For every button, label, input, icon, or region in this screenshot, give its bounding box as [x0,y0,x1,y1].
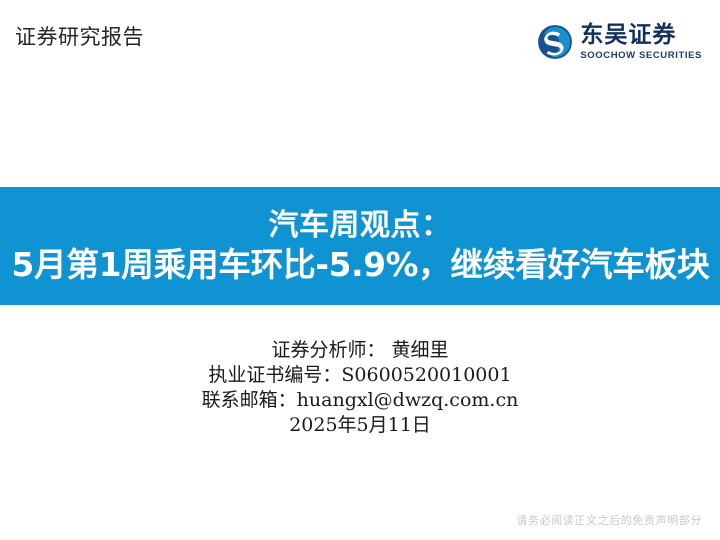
brand-name-cn: 东吴证券 [580,24,702,47]
report-date-line: 2025年5月11日 [0,413,720,438]
footer-disclaimer: 请务必阅读正文之后的免责声明部分 [516,512,702,528]
brand-logo: 东吴证券 SOOCHOW SECURITIES [537,24,702,61]
report-type-label: 证券研究报告 [15,25,144,49]
report-cover-slide: 证券研究报告 东吴证券 SOOCHOW SECURITIES 汽车周观点： 5月… [0,0,720,540]
analyst-email-line: 联系邮箱：huangxl@dwzq.com.cn [0,388,720,413]
analyst-info-block: 证券分析师： 黄细里 执业证书编号：S0600520010001 联系邮箱：hu… [0,338,720,438]
soochow-securities-logo-mark [537,24,573,60]
analyst-name-line: 证券分析师： 黄细里 [0,338,720,363]
brand-logo-text: 东吴证券 SOOCHOW SECURITIES [580,24,702,61]
analyst-certificate-line: 执业证书编号：S0600520010001 [0,363,720,388]
title-banner: 汽车周观点： 5月第1周乘用车环比-5.9%，继续看好汽车板块 [0,187,720,305]
brand-name-en: SOOCHOW SECURITIES [580,51,702,61]
report-title-line-1: 汽车周观点： [269,207,452,245]
report-title-line-2: 5月第1周乘用车环比-5.9%，继续看好汽车板块 [11,245,709,285]
